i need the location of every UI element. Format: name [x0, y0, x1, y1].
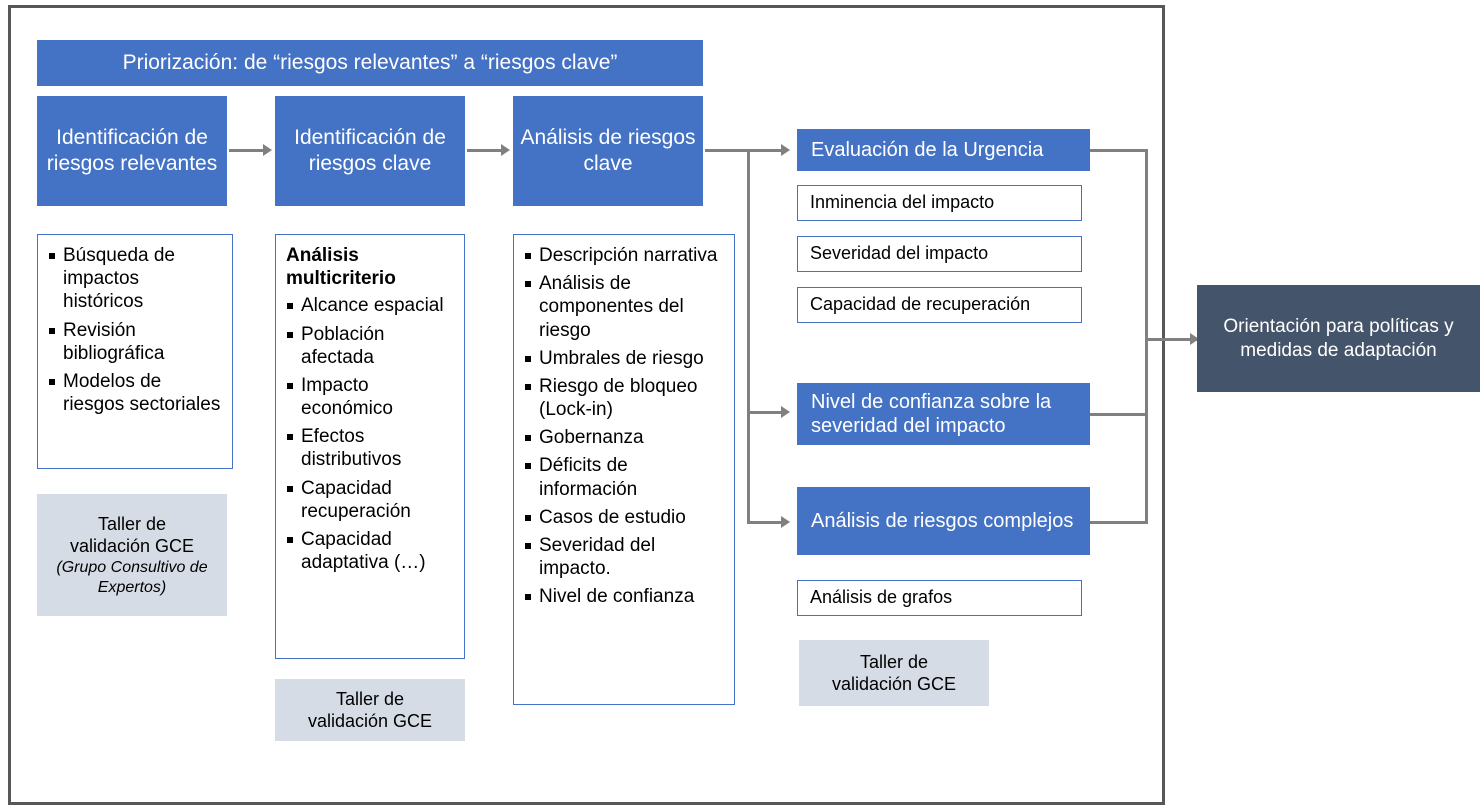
arrow-stage2-to-stage3-head — [501, 144, 510, 156]
square-bullet-icon — [525, 253, 531, 259]
list-panel-column2-heading: Análisis multicriterio — [286, 244, 456, 290]
list-item-label: Nivel de confianza — [539, 586, 694, 607]
stage-box-label: Identificación de riesgos clave — [275, 125, 465, 176]
stage-box-identificacion-riesgos-relevantes[interactable]: Identificación de riesgos relevantes — [37, 96, 227, 206]
branch-arrow-complejos-line — [747, 521, 785, 524]
branch-item-analisis-grafos[interactable]: Análisis de grafos — [797, 580, 1082, 616]
list-panel-column3-items: Descripción narrativa Análisis de compon… — [524, 244, 726, 608]
square-bullet-icon — [525, 356, 531, 362]
square-bullet-icon — [525, 515, 531, 521]
square-bullet-icon — [49, 379, 55, 385]
list-item: Capacidad adaptativa (…) — [286, 528, 456, 574]
square-bullet-icon — [49, 253, 55, 259]
outcome-box-label: Orientación para políticas y medidas de … — [1197, 315, 1480, 361]
workshop-line1: Taller de — [308, 688, 432, 711]
square-bullet-icon — [287, 303, 293, 309]
list-item: Descripción narrativa — [524, 244, 726, 267]
list-item: Déficits de información — [524, 454, 726, 500]
list-item: Modelos de riesgos sectoriales — [48, 370, 224, 416]
workshop-line2: validación GCE — [832, 673, 956, 696]
list-item-label: Capacidad recuperación — [301, 478, 411, 522]
workshop-line2: validación GCE — [37, 535, 227, 558]
square-bullet-icon — [525, 281, 531, 287]
diagram-canvas: Priorización: de “riesgos relevantes” a … — [0, 0, 1484, 810]
list-panel-column1: Búsqueda de impactos históricos Revisión… — [37, 234, 233, 469]
square-bullet-icon — [287, 486, 293, 492]
list-item-label: Revisión bibliográfica — [63, 320, 164, 364]
workshop-box-branch3-content: Taller de validación GCE — [832, 651, 956, 696]
title-banner-label: Priorización: de “riesgos relevantes” a … — [123, 50, 618, 76]
workshop-box-column1: Taller de validación GCE (Grupo Consulti… — [37, 494, 227, 616]
square-bullet-icon — [525, 463, 531, 469]
list-item-label: Análisis de componentes del riesgo — [539, 273, 684, 340]
list-item: Revisión bibliográfica — [48, 319, 224, 365]
list-item-label: Búsqueda de impactos históricos — [63, 245, 175, 312]
workshop-line1: Taller de — [37, 513, 227, 536]
square-bullet-icon — [287, 434, 293, 440]
stage-box-analisis-riesgos-clave[interactable]: Análisis de riesgos clave — [513, 96, 703, 206]
arrow-stage2-to-stage3-line — [467, 149, 503, 152]
arrow-stage1-to-stage2-head — [263, 144, 272, 156]
list-item: Análisis de componentes del riesgo — [524, 272, 726, 342]
list-item-label: Umbrales de riesgo — [539, 348, 704, 369]
merge-line-complejos — [1090, 521, 1148, 524]
stage-box-label: Identificación de riesgos relevantes — [37, 125, 227, 176]
branch-arrow-complejos-head — [781, 516, 790, 528]
square-bullet-icon — [525, 543, 531, 549]
list-item-label: Capacidad adaptativa (…) — [301, 529, 426, 573]
workshop-line2: validación GCE — [308, 710, 432, 733]
square-bullet-icon — [525, 435, 531, 441]
list-item: Nivel de confianza — [524, 585, 726, 608]
square-bullet-icon — [525, 384, 531, 390]
list-panel-column3: Descripción narrativa Análisis de compon… — [513, 234, 735, 705]
branch-item-label: Capacidad de recuperación — [810, 294, 1030, 316]
list-item-label: Modelos de riesgos sectoriales — [63, 371, 220, 415]
branch-item-severidad-impacto[interactable]: Severidad del impacto — [797, 236, 1082, 272]
branch-item-capacidad-recuperacion[interactable]: Capacidad de recuperación — [797, 287, 1082, 323]
list-item-label: Alcance espacial — [301, 295, 444, 316]
stage-box-label: Análisis de riesgos clave — [513, 125, 703, 176]
branch-header-label: Evaluación de la Urgencia — [811, 138, 1043, 162]
list-item-label: Severidad del impacto. — [539, 535, 655, 579]
merge-line-urgencia — [1090, 149, 1148, 152]
square-bullet-icon — [49, 328, 55, 334]
branch-header-label: Nivel de confianza sobre la severidad de… — [811, 390, 1080, 439]
list-item: Umbrales de riesgo — [524, 347, 726, 370]
branch-arrow-urgencia-head — [781, 144, 790, 156]
workshop-box-column2-content: Taller de validación GCE — [308, 688, 432, 733]
list-item: Población afectada — [286, 323, 456, 369]
square-bullet-icon — [287, 332, 293, 338]
stage-box-identificacion-riesgos-clave[interactable]: Identificación de riesgos clave — [275, 96, 465, 206]
workshop-box-column2: Taller de validación GCE — [275, 679, 465, 741]
workshop-box-column1-content: Taller de validación GCE (Grupo Consulti… — [37, 513, 227, 598]
list-item-label: Descripción narrativa — [539, 245, 717, 266]
list-item: Casos de estudio — [524, 506, 726, 529]
list-item-label: Impacto económico — [301, 375, 393, 419]
workshop-box-branch3: Taller de validación GCE — [799, 640, 989, 706]
branch-header-analisis-riesgos-complejos[interactable]: Análisis de riesgos complejos — [797, 487, 1090, 555]
square-bullet-icon — [287, 537, 293, 543]
list-item-label: Déficits de información — [539, 455, 637, 499]
merge-vertical — [1145, 149, 1148, 524]
workshop-line1: Taller de — [832, 651, 956, 674]
list-item: Alcance espacial — [286, 294, 456, 317]
square-bullet-icon — [525, 594, 531, 600]
list-item-label: Gobernanza — [539, 427, 644, 448]
workshop-note: (Grupo Consultivo de Expertos) — [37, 558, 227, 598]
list-item: Impacto económico — [286, 374, 456, 420]
list-item-label: Efectos distributivos — [301, 426, 401, 470]
branch-item-label: Inminencia del impacto — [810, 192, 994, 214]
branch-arrow-urgencia-line — [747, 149, 785, 152]
square-bullet-icon — [287, 383, 293, 389]
branch-trunk-vertical — [747, 149, 750, 524]
list-panel-column2: Análisis multicriterio Alcance espacial … — [275, 234, 465, 659]
list-item-label: Casos de estudio — [539, 507, 686, 528]
outcome-box[interactable]: Orientación para políticas y medidas de … — [1197, 285, 1480, 392]
branch-arrow-confianza-line — [747, 411, 785, 414]
list-item-label: Riesgo de bloqueo (Lock-in) — [539, 376, 697, 420]
branch-header-nivel-confianza[interactable]: Nivel de confianza sobre la severidad de… — [797, 383, 1090, 445]
list-item: Búsqueda de impactos históricos — [48, 244, 224, 314]
list-panel-column2-items: Alcance espacial Población afectada Impa… — [286, 294, 456, 574]
title-banner: Priorización: de “riesgos relevantes” a … — [37, 40, 703, 86]
arrow-stage1-to-stage2-line — [229, 149, 265, 152]
branch-item-inminencia-impacto[interactable]: Inminencia del impacto — [797, 185, 1082, 221]
list-item: Efectos distributivos — [286, 425, 456, 471]
branch-header-evaluacion-urgencia[interactable]: Evaluación de la Urgencia — [797, 129, 1090, 171]
list-item: Riesgo de bloqueo (Lock-in) — [524, 375, 726, 421]
list-item: Gobernanza — [524, 426, 726, 449]
branch-header-label: Análisis de riesgos complejos — [811, 509, 1073, 533]
list-item: Capacidad recuperación — [286, 477, 456, 523]
branch-item-label: Análisis de grafos — [810, 587, 952, 609]
list-item: Severidad del impacto. — [524, 534, 726, 580]
list-item-label: Población afectada — [301, 324, 384, 368]
merge-line-confianza — [1090, 413, 1148, 416]
branch-arrow-confianza-head — [781, 406, 790, 418]
branch-item-label: Severidad del impacto — [810, 243, 988, 265]
list-panel-column1-items: Búsqueda de impactos históricos Revisión… — [48, 244, 224, 416]
